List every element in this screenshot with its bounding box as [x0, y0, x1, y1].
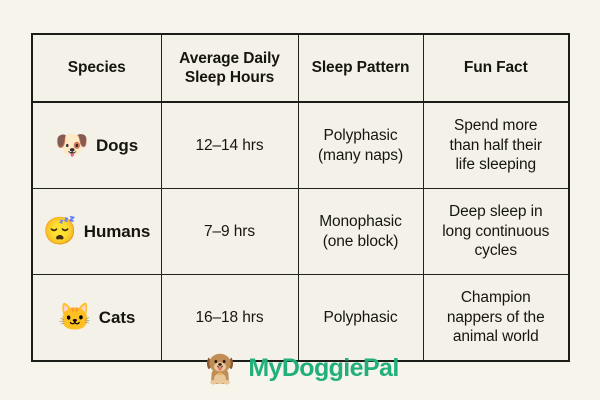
brand-footer: MyDoggiePal	[0, 349, 600, 387]
table-header: Species Average Daily Sleep Hours Sleep …	[32, 34, 569, 102]
cell-species-humans: 😴 Humans	[32, 189, 161, 275]
fun-fact-line1: Deep sleep in	[430, 202, 563, 222]
column-header-hours-line2: Sleep Hours	[168, 68, 292, 87]
column-header-fun-fact: Fun Fact	[423, 34, 569, 102]
sleeping-face-emoji: 😴	[43, 218, 77, 245]
fun-fact-line2: long continuous	[430, 222, 563, 242]
dog-mascot-icon	[201, 349, 239, 387]
cell-species-dogs: 🐶 Dogs	[32, 102, 161, 189]
fun-fact-line1: Champion	[430, 288, 563, 308]
brand-name: MyDoggiePal	[248, 356, 398, 381]
species-label: Humans	[84, 221, 150, 242]
table-row: 🐶 Dogs 12–14 hrs Polyphasic (many naps)	[32, 102, 569, 189]
fun-fact-line2: than half their	[430, 136, 563, 156]
pattern-line1: Polyphasic	[305, 126, 417, 146]
column-header-species: Species	[32, 34, 161, 102]
cat-face-emoji: 🐱	[58, 304, 92, 331]
cell-hours-humans: 7–9 hrs	[161, 189, 298, 275]
fun-fact-line3: animal world	[430, 327, 563, 347]
sleep-comparison-table: Species Average Daily Sleep Hours Sleep …	[31, 33, 570, 362]
pattern-line2: (many naps)	[305, 146, 417, 166]
pattern-line1: Monophasic	[305, 212, 417, 232]
dog-face-emoji: 🐶	[55, 132, 89, 159]
cell-fun-fact-dogs: Spend more than half their life sleeping	[423, 102, 569, 189]
pattern-line1: Polyphasic	[305, 308, 417, 328]
fun-fact-line2: nappers of the	[430, 308, 563, 328]
column-header-average-daily-sleep-hours: Average Daily Sleep Hours	[161, 34, 298, 102]
column-header-hours-line1: Average Daily	[168, 49, 292, 68]
table-header-row: Species Average Daily Sleep Hours Sleep …	[32, 34, 569, 102]
fun-fact-line3: life sleeping	[430, 155, 563, 175]
species-label: Dogs	[96, 135, 138, 156]
cell-pattern-dogs: Polyphasic (many naps)	[298, 102, 423, 189]
sleep-comparison-infographic: Species Average Daily Sleep Hours Sleep …	[0, 0, 600, 400]
table-row: 😴 Humans 7–9 hrs Monophasic (one block)	[32, 189, 569, 275]
table-body: 🐶 Dogs 12–14 hrs Polyphasic (many naps)	[32, 102, 569, 361]
pattern-line2: (one block)	[305, 232, 417, 252]
column-header-sleep-pattern: Sleep Pattern	[298, 34, 423, 102]
fun-fact-line3: cycles	[430, 241, 563, 261]
cell-pattern-humans: Monophasic (one block)	[298, 189, 423, 275]
species-label: Cats	[99, 307, 135, 328]
sleep-table-container: Species Average Daily Sleep Hours Sleep …	[31, 33, 568, 340]
cell-hours-dogs: 12–14 hrs	[161, 102, 298, 189]
fun-fact-line1: Spend more	[430, 116, 563, 136]
cell-fun-fact-humans: Deep sleep in long continuous cycles	[423, 189, 569, 275]
